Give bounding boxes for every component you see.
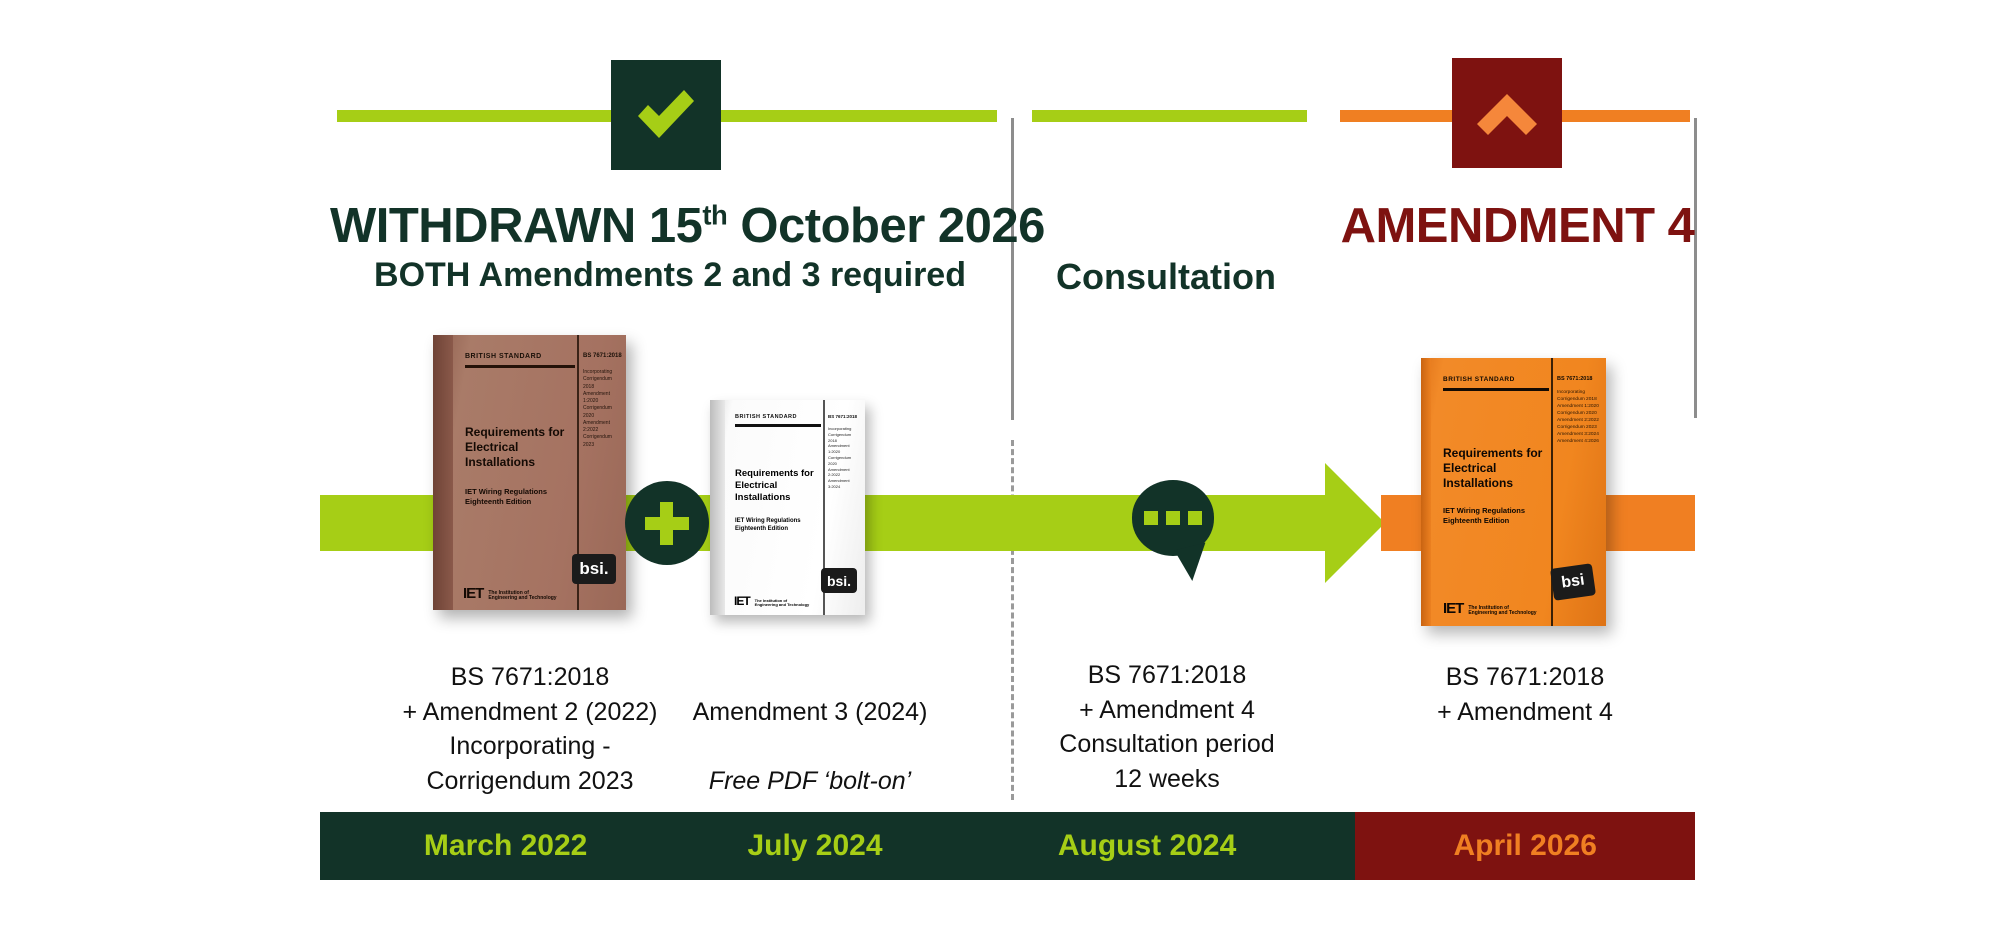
bsi-logo: bsi. [572, 554, 616, 584]
book-standard-label: BRITISH STANDARD [735, 414, 797, 420]
book-spine [433, 335, 453, 610]
book-subtitle-line2: Eighteenth Edition [465, 497, 531, 506]
book-amendments-list: Incorporating Corrigendum 2018 Amendment… [583, 369, 623, 449]
speech-bubble-icon [1132, 480, 1214, 556]
book-title: Requirements for Electrical Installation… [1443, 446, 1551, 491]
consultation-heading: Consultation [1011, 256, 1321, 298]
date-segment-july-2024[interactable]: July 2024 [691, 812, 939, 880]
caption-consultation: BS 7671:2018 + Amendment 4 Consultation … [1012, 658, 1322, 796]
book-amendments-list: Incorporating Corrigendum 2018 Amendment… [1557, 390, 1599, 446]
book-title-line2: Electrical Installations [1443, 461, 1513, 490]
book-title: Requirements for Electrical Installation… [735, 468, 823, 504]
book-subtitle-line2: Eighteenth Edition [735, 526, 788, 532]
iet-mark: IET [1443, 600, 1463, 617]
timeline-infographic: WITHDRAWN 15th October 2026 BOTH Amendme… [0, 0, 2000, 947]
dot-2 [1166, 511, 1180, 525]
date-segment-august-2024[interactable]: August 2024 [939, 812, 1356, 880]
withdrawn-title: WITHDRAWN 15th October 2026 [330, 198, 1010, 254]
caption-amendment4: BS 7671:2018 + Amendment 4 [1355, 660, 1695, 729]
book-title-line1: Requirements for [465, 425, 564, 439]
top-rule-segment-2 [1032, 110, 1307, 122]
plus-vertical-bar [660, 502, 673, 545]
withdrawn-title-rest: October 2026 [727, 199, 1045, 253]
book-title: Requirements for Electrical Installation… [465, 425, 573, 470]
bsi-logo: bsi [1550, 563, 1596, 601]
caption-amendment3-line1: Amendment 3 (2024) [693, 698, 928, 726]
book-amendments-list: Incorporating Corrigendum 2018 Amendment… [828, 426, 860, 490]
date-segment-april-2026[interactable]: April 2026 [1355, 812, 1695, 880]
iet-strapline: The Institution of Engineering and Techn… [1468, 606, 1536, 618]
iet-strapline-line2: Engineering and Technology [488, 595, 556, 601]
book-subtitle-line1: IET Wiring Regulations [735, 518, 801, 524]
date-segment-march-2022[interactable]: March 2022 [320, 812, 691, 880]
iet-strapline: The Institution of Engineering and Techn… [488, 591, 556, 603]
book-subtitle: IET Wiring Regulations Eighteenth Editio… [1443, 506, 1525, 526]
book-code: BS 7671:2018 [828, 414, 857, 419]
book-title-line2: Electrical Installations [735, 480, 790, 503]
book-subtitle-line1: IET Wiring Regulations [1443, 506, 1525, 515]
withdrawn-title-superscript: th [702, 200, 727, 231]
book-bs7671-amendment2: BRITISH STANDARD BS 7671:2018 Incorporat… [433, 335, 626, 610]
book-title-rule [1443, 388, 1549, 391]
iet-strapline-line2: Engineering and Technology [1468, 610, 1536, 616]
book-title-rule [465, 365, 575, 368]
iet-mark: IET [734, 594, 750, 608]
book-code: BS 7671:2018 [583, 353, 622, 359]
plus-circle-icon [625, 481, 709, 565]
book-spine [1421, 358, 1431, 626]
book-subtitle: IET Wiring Regulations Eighteenth Editio… [735, 518, 801, 534]
dot-1 [1144, 511, 1158, 525]
chevron-up-icon [1475, 86, 1539, 140]
book-subtitle-line1: IET Wiring Regulations [465, 487, 547, 496]
book-title-rule [735, 424, 821, 427]
iet-strapline: The Institution of Engineering and Techn… [755, 599, 810, 608]
book-subtitle: IET Wiring Regulations Eighteenth Editio… [465, 487, 547, 507]
bsi-logo: bsi. [821, 568, 857, 593]
book-title-line1: Requirements for [735, 468, 814, 479]
iet-logo: IET The Institution of Engineering and T… [1443, 600, 1537, 617]
book-spine [710, 400, 725, 615]
book-standard-label: BRITISH STANDARD [1443, 376, 1515, 383]
iet-mark: IET [463, 585, 483, 602]
caption-amendment3: Amendment 3 (2024) Free PDF ‘bolt-on’ [620, 660, 1000, 798]
caption-amendment3-line2: Free PDF ‘bolt-on’ [709, 767, 911, 795]
book-bs7671-amendment4: BRITISH STANDARD BS 7671:2018 Incorporat… [1421, 358, 1606, 626]
book-code: BS 7671:2018 [1557, 376, 1592, 382]
milestone-chevron-square [1452, 58, 1562, 168]
book-title-line2: Electrical Installations [465, 440, 535, 469]
iet-strapline-line2: Engineering and Technology [755, 602, 810, 607]
check-icon [634, 86, 698, 144]
divider-amendment-right [1694, 118, 1697, 418]
iet-logo: IET The Institution of Engineering and T… [463, 585, 557, 602]
speech-bubble-dots [1144, 511, 1202, 525]
book-amendment3-pdf: BRITISH STANDARD BS 7671:2018 Incorporat… [710, 400, 865, 615]
milestone-check-square [611, 60, 721, 170]
amendment4-title: AMENDMENT 4 [1340, 198, 1695, 254]
withdrawn-subtitle: BOTH Amendments 2 and 3 required [330, 256, 1010, 295]
dot-3 [1188, 511, 1202, 525]
date-bar: March 2022 July 2024 August 2024 April 2… [320, 812, 1695, 880]
flow-arrow-head [1325, 463, 1385, 583]
book-standard-label: BRITISH STANDARD [465, 353, 542, 360]
iet-logo: IET The Institution of Engineering and T… [734, 594, 809, 608]
book-title-line1: Requirements for [1443, 446, 1542, 460]
withdrawn-title-main: WITHDRAWN 15 [330, 199, 702, 253]
book-subtitle-line2: Eighteenth Edition [1443, 516, 1509, 525]
